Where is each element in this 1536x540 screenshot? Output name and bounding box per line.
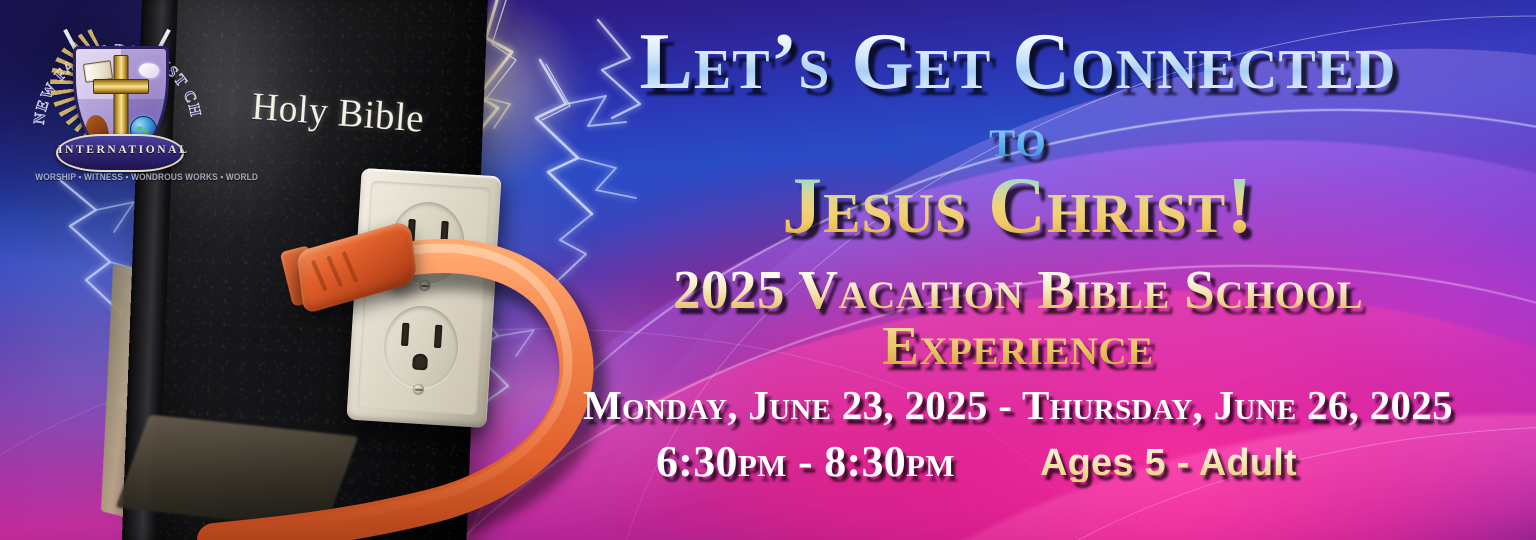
event-dates: Monday, June 23, 2025 - Thursday, June 2… xyxy=(548,385,1488,426)
event-ages: Ages 5 - Adult xyxy=(1040,444,1297,482)
socket-slot-left-2 xyxy=(401,323,409,346)
headline-line5: Experience xyxy=(548,318,1488,373)
cross-icon-horizontal xyxy=(93,79,149,94)
logo-motto-text: WORSHIP • WITNESS • WONDROUS WORKS • WOR… xyxy=(35,172,202,182)
headline-line4: 2025 Vacation Bible School xyxy=(548,262,1488,317)
promo-copy-block: Let’s Get Connected Let’s Get Connected … xyxy=(548,0,1488,540)
plug-ridge-2 xyxy=(326,255,343,287)
vbs-promo-banner: Holy Bible xyxy=(0,0,1536,540)
event-time-and-ages-row: 6:30pm - 8:30pm 6:30pm - 8:30pm Ages 5 -… xyxy=(548,440,1488,496)
headline-line3: Jesus Christ! xyxy=(548,166,1488,246)
church-logo: NEW FAITH BAPTIST CHURCH INTERNATIONAL W… xyxy=(30,6,205,196)
socket-slot-right xyxy=(440,221,448,244)
socket-ground-hole xyxy=(418,250,434,267)
plug-ridge-3 xyxy=(342,251,359,283)
socket-ground-hole-2 xyxy=(412,353,428,370)
plug-ridge-1 xyxy=(311,260,328,292)
wall-outlet-plate xyxy=(346,168,501,428)
headline-line1: Let’s Get Connected xyxy=(548,22,1488,102)
logo-ribbon-label: INTERNATIONAL xyxy=(58,144,182,156)
event-times: 6:30pm - 8:30pm xyxy=(656,440,955,484)
headline-line2: to xyxy=(548,110,1488,166)
socket-slot-right-2 xyxy=(434,325,442,348)
logo-ribbon: INTERNATIONAL xyxy=(56,134,184,172)
